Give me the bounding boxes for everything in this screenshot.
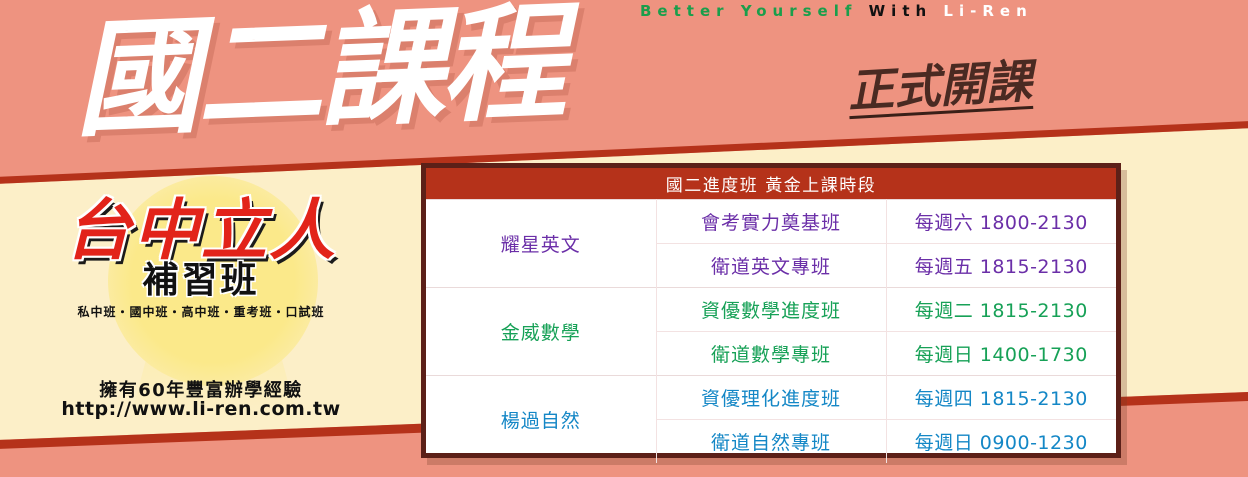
brand-class-list: 私中班・國中班・高中班・重考班・口試班 — [36, 303, 366, 320]
table-header-row: 國二進度班 黃金上課時段 — [426, 168, 1116, 200]
teacher-cell: 金威數學 — [426, 288, 656, 376]
tagline: Better Yourself With Li-Ren — [640, 2, 1240, 20]
course-cell: 資優理化進度班 — [656, 376, 886, 420]
brand-name: 台中立人 — [36, 196, 366, 265]
course-cell: 會考實力奠基班 — [656, 200, 886, 244]
time-cell: 每週六 1800-2130 — [886, 200, 1116, 244]
time-cell: 每週日 1400-1730 — [886, 332, 1116, 376]
schedule-table-head: 國二進度班 黃金上課時段 — [426, 168, 1116, 200]
website-url[interactable]: http://www.li-ren.com.tw — [36, 398, 366, 420]
time-cell: 每週二 1815-2130 — [886, 288, 1116, 332]
table-row: 金威數學資優數學進度班每週二 1815-2130 — [426, 288, 1116, 332]
course-cell: 衛道數學專班 — [656, 332, 886, 376]
page-subtitle: 正式開課 — [847, 58, 1034, 119]
banner-root: Better Yourself With Li-Ren 國二課程 正式開課 台中… — [0, 0, 1248, 477]
tagline-word-with: With — [869, 2, 933, 20]
schedule-table-body: 耀星英文會考實力奠基班每週六 1800-2130衛道英文專班每週五 1815-2… — [426, 200, 1116, 464]
time-cell: 每週日 0900-1230 — [886, 420, 1116, 464]
course-cell: 衛道自然專班 — [656, 420, 886, 464]
table-row: 楊過自然資優理化進度班每週四 1815-2130 — [426, 376, 1116, 420]
time-cell: 每週五 1815-2130 — [886, 244, 1116, 288]
schedule-table-container: 國二進度班 黃金上課時段 耀星英文會考實力奠基班每週六 1800-2130衛道英… — [421, 163, 1121, 458]
time-cell: 每週四 1815-2130 — [886, 376, 1116, 420]
page-title: 國二課程 — [72, 0, 564, 143]
tagline-word-liren: Li-Ren — [943, 2, 1032, 20]
course-cell: 資優數學進度班 — [656, 288, 886, 332]
tagline-word-better: Better — [640, 2, 730, 20]
course-cell: 衛道英文專班 — [656, 244, 886, 288]
schedule-table-title: 國二進度班 黃金上課時段 — [426, 168, 1116, 200]
schedule-table: 國二進度班 黃金上課時段 耀星英文會考實力奠基班每週六 1800-2130衛道英… — [426, 168, 1116, 463]
teacher-cell: 耀星英文 — [426, 200, 656, 288]
brand-logo: 台中立人 補習班 私中班・國中班・高中班・重考班・口試班 — [36, 196, 366, 320]
table-row: 耀星英文會考實力奠基班每週六 1800-2130 — [426, 200, 1116, 244]
tagline-word-yourself: Yourself — [741, 2, 858, 20]
teacher-cell: 楊過自然 — [426, 376, 656, 464]
